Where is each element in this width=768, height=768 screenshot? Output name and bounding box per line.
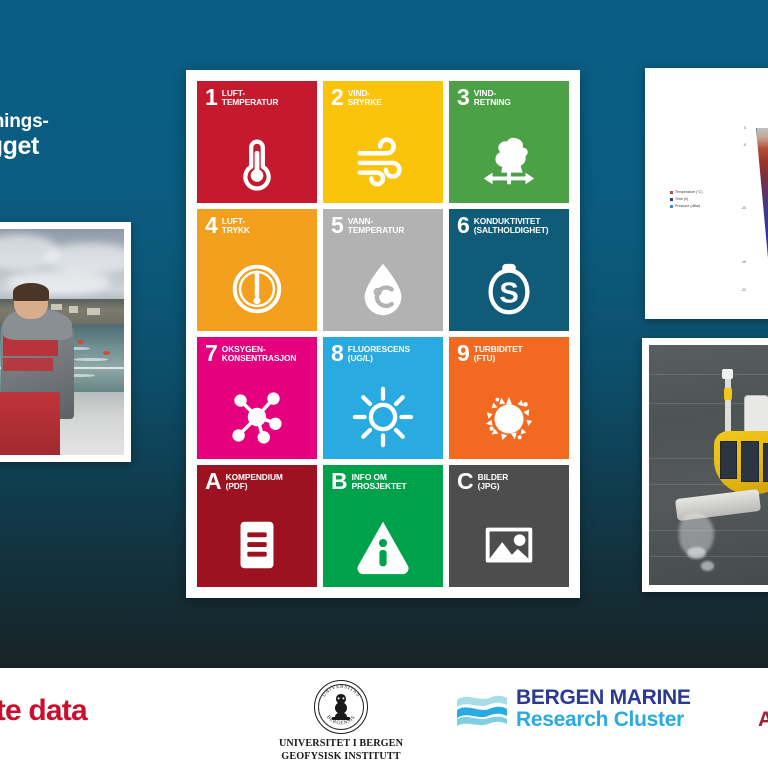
- thermometer-icon: [197, 125, 317, 197]
- marker-buoy: [77, 340, 84, 344]
- document-icon: [197, 509, 317, 581]
- bergen-marine-research-cluster-logo: BERGEN MARINE Research Cluster: [455, 687, 691, 730]
- bmrc-line-2: Research Cluster: [516, 709, 691, 730]
- y-axis-tick: -15: [741, 260, 746, 264]
- bmrc-line-1: BERGEN MARINE: [516, 687, 691, 708]
- tile-header: C BILDER (JPG): [457, 472, 563, 492]
- wind-icon: [323, 125, 443, 197]
- legend-swatch-icon: [670, 198, 673, 201]
- buoy-mast: [725, 374, 730, 436]
- tile-label: VIND- RETNING: [474, 88, 511, 107]
- tile-kompendium-pdf[interactable]: A KOMPENDIUM (PDF): [197, 465, 317, 587]
- water-droplet-celsius-icon: [323, 253, 443, 325]
- tile-label: LUFT- TRYKK: [222, 216, 250, 235]
- y-axis-tick: -20: [741, 288, 746, 292]
- tile-number: A: [205, 472, 221, 492]
- sea-foam: [701, 561, 715, 571]
- measurement-tile-grid: 1 LUFT- TEMPERATUR 2 VIND- SRYRKE: [197, 81, 569, 587]
- tile-bilder-jpg[interactable]: C BILDER (JPG): [449, 465, 569, 587]
- tile-label: TURBIDITET (FTU): [474, 344, 523, 363]
- tile-label: BILDER (JPG): [478, 472, 509, 491]
- uib-logo-text: UNIVERSITET I BERGEN GEOFYSISK INSTITUTT: [255, 738, 427, 764]
- tile-label: FLUORESCENS (ug/l): [348, 344, 410, 363]
- tile-header: 9 TURBIDITET (FTU): [457, 344, 563, 364]
- chart-plot-area: 0 -5 -10 -15 -20: [748, 128, 768, 298]
- tile-vann-temperatur[interactable]: 5 VANN- TEMPERATUR: [323, 209, 443, 331]
- photo-student-image: [0, 229, 124, 455]
- water-ripple: [649, 374, 768, 375]
- water-ripple: [649, 556, 768, 557]
- tile-number: 4: [205, 216, 217, 236]
- edge-partner-text: A: [758, 708, 768, 732]
- page-title: dervisnings- pplegget: [0, 112, 168, 160]
- tile-number: 5: [331, 216, 343, 236]
- tile-label: KONDUKTIVITET (SALTHOLDIGHET): [474, 216, 549, 235]
- page-title-line-2: pplegget: [0, 133, 168, 160]
- svg-text:S: S: [499, 278, 518, 310]
- legend-label: Temperature (°C): [675, 189, 703, 196]
- tile-label: LUFT- TEMPERATUR: [222, 88, 279, 107]
- slide-canvas: dervisnings- pplegget: [0, 0, 768, 768]
- tile-header: 5 VANN- TEMPERATUR: [331, 216, 437, 236]
- tile-label: OKSYGEN- KONSENTRASJON: [222, 344, 297, 363]
- griffin-crest-icon: [329, 692, 353, 722]
- buoy-mast-light: [722, 369, 733, 379]
- tile-header: A KOMPENDIUM (PDF): [205, 472, 311, 492]
- photo-buoy-image: [649, 345, 768, 585]
- tile-header: 6 KONDUKTIVITET (SALTHOLDIGHET): [457, 216, 563, 236]
- tile-number: 1: [205, 88, 217, 108]
- legend-label: Pressure (dBar): [675, 203, 700, 210]
- building-speck: [51, 304, 63, 311]
- tile-label: INFO OM PROSJEKTET: [352, 472, 407, 491]
- legend-swatch-icon: [670, 191, 673, 194]
- tile-header: 7 OKSYGEN- KONSENTRASJON: [205, 344, 311, 364]
- legend-item-time: Time (h): [670, 196, 703, 203]
- y-axis-tick: -5: [743, 143, 746, 147]
- tile-fluorescens[interactable]: 8 FLUORESCENS (ug/l): [323, 337, 443, 459]
- solar-panel: [720, 441, 738, 479]
- y-axis-tick: 0: [744, 126, 746, 130]
- page-title-line-1: dervisnings-: [0, 112, 168, 132]
- turbidity-splat-icon: [449, 381, 569, 453]
- tile-label: VANN- TEMPERATUR: [348, 216, 405, 235]
- tile-info-om-prosjektet[interactable]: B INFO OM PROSJEKTET: [323, 465, 443, 587]
- tile-konduktivitet[interactable]: 6 KONDUKTIVITET (SALTHOLDIGHET) S: [449, 209, 569, 331]
- legend-label: Time (h): [675, 196, 688, 203]
- measurement-tile-panel: 1 LUFT- TEMPERATUR 2 VIND- SRYRKE: [186, 70, 580, 598]
- legend-item-pressure: Pressure (dBar): [670, 203, 703, 210]
- tile-luft-temperatur[interactable]: 1 LUFT- TEMPERATUR: [197, 81, 317, 203]
- building-speck: [69, 306, 78, 313]
- tile-header: B INFO OM PROSJEKTET: [331, 472, 437, 492]
- building-speck: [87, 308, 100, 315]
- solar-panel: [741, 441, 759, 482]
- legend-item-temperature: Temperature (°C): [670, 189, 703, 196]
- person-trousers: [0, 392, 60, 455]
- uib-logo: UNIVERSITAS BERGENSIS UNIVERSITET I BERG…: [255, 680, 427, 764]
- tile-header: 1 LUFT- TEMPERATUR: [205, 88, 311, 108]
- tile-number: 9: [457, 344, 469, 364]
- tile-turbiditet[interactable]: 9 TURBIDITET (FTU): [449, 337, 569, 459]
- tile-number: 2: [331, 88, 343, 108]
- salinity-bulb-icon: S: [449, 253, 569, 325]
- tile-number: 6: [457, 216, 469, 236]
- chart-legend: Temperature (°C) Time (h) Pressure (dBar…: [670, 189, 703, 209]
- wave-mark-icon: [455, 690, 509, 728]
- solar-panel: [763, 443, 768, 481]
- sun-icon: [323, 381, 443, 453]
- tile-label: KOMPENDIUM (PDF): [226, 472, 283, 491]
- tile-oksygen-konsentrasjon[interactable]: 7 OKSYGEN- KONSENTRASJON: [197, 337, 317, 459]
- chart-canvas: Temperature (°C) Time (h) Pressure (dBar…: [654, 77, 768, 310]
- ctd-profile-chart-panel: Temperature (°C) Time (h) Pressure (dBar…: [645, 68, 768, 319]
- info-triangle-icon: [323, 509, 443, 581]
- tile-header: 8 FLUORESCENS (ug/l): [331, 344, 437, 364]
- tile-number: 7: [205, 344, 217, 364]
- tile-number: 8: [331, 344, 343, 364]
- tagline-text: ekte data: [0, 694, 87, 728]
- depth-profile-outline: [756, 128, 768, 298]
- water-glint: [74, 358, 108, 361]
- bmrc-wordmark: BERGEN MARINE Research Cluster: [516, 687, 691, 730]
- hoodie-stripe: [3, 358, 53, 372]
- photo-ocean-data-buoy: [642, 338, 768, 592]
- person-hair: [13, 283, 50, 301]
- molecule-icon: [197, 381, 317, 453]
- sea-foam: [687, 547, 706, 559]
- photo-student-by-the-fjord: [0, 222, 131, 462]
- tile-number: 3: [457, 88, 469, 108]
- tile-header: 4 LUFT- TRYKK: [205, 216, 311, 236]
- barometer-icon: [197, 253, 317, 325]
- tile-header: 3 VIND- RETNING: [457, 88, 563, 108]
- uib-seal-icon: UNIVERSITAS BERGENSIS: [314, 680, 368, 734]
- tile-number: C: [457, 472, 473, 492]
- tile-header: 2 VIND- SRYRKE: [331, 88, 437, 108]
- buoy-sensor: [724, 388, 732, 400]
- legend-swatch-icon: [670, 205, 673, 208]
- tile-vind-retning[interactable]: 3 VIND- RETNING: [449, 81, 569, 203]
- image-icon: [449, 509, 569, 581]
- weathervane-icon: [449, 125, 569, 197]
- partner-logo-bar: ekte data UNIVERSITAS BERGENSIS: [0, 668, 768, 768]
- tile-number: B: [331, 472, 347, 492]
- tile-luft-trykk[interactable]: 4 LUFT- TRYKK: [197, 209, 317, 331]
- tile-label: VIND- SRYRKE: [348, 88, 382, 107]
- tile-vind-styrke[interactable]: 2 VIND- SRYRKE: [323, 81, 443, 203]
- y-axis-tick: -10: [741, 206, 746, 210]
